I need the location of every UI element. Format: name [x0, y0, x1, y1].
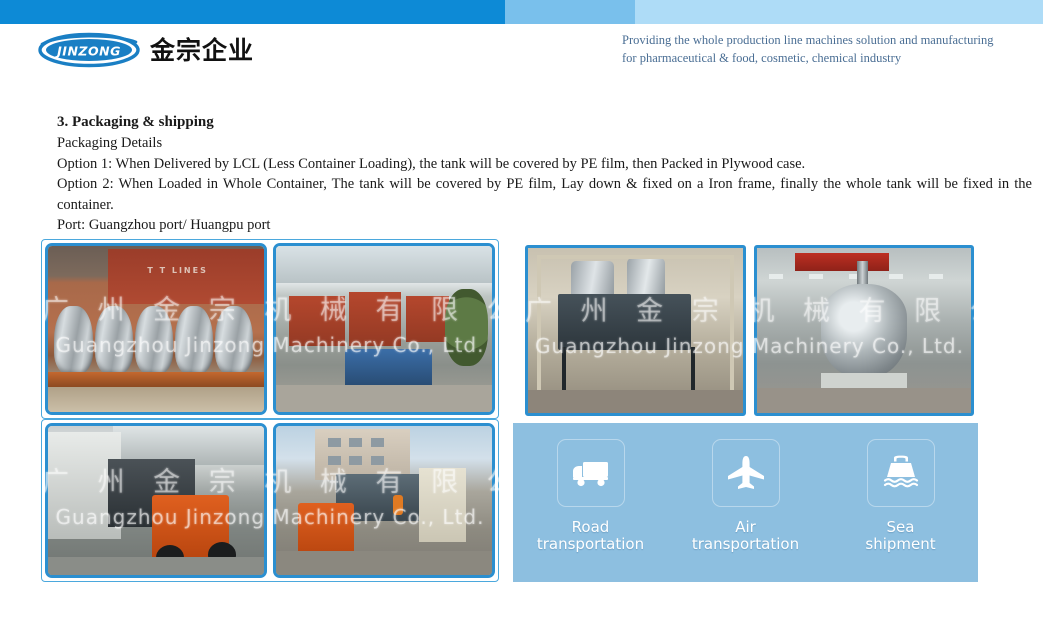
photo-forklift-loading-container [45, 423, 267, 578]
photo-group-top-right: 广 州 金 宗 机 械 有 限 公 司 Guangzhou Jinzong Ma… [525, 245, 974, 416]
photo-group-top-left: T T LINES 广 州 金 宗 机 械 有 限 公 [41, 239, 499, 419]
truck-icon [557, 439, 625, 507]
header-tagline: Providing the whole production line mach… [622, 31, 1047, 67]
transport-item-road: Road transportation [523, 439, 658, 554]
packaging-option-1: Option 1: When Delivered by LCL (Less Co… [57, 154, 1032, 174]
transport-label-sea-line1: Sea [833, 519, 968, 536]
transport-label-road-line2: transportation [523, 536, 658, 553]
transport-item-sea: Sea shipment [833, 439, 968, 554]
jinzong-oval-logo-icon: JINZONG [38, 32, 140, 68]
document-text-block: 3. Packaging & shipping Packaging Detail… [57, 112, 1032, 235]
transport-methods-panel: Road transportation Air transportation [513, 423, 978, 582]
transport-label-sea-line2: shipment [833, 536, 968, 553]
page-header: JINZONG 金宗企业 Providing the whole product… [0, 24, 1060, 90]
transport-item-air: Air transportation [678, 439, 813, 554]
logo-chinese-text: 金宗企业 [150, 38, 254, 63]
photo-reactor-in-factory [754, 245, 975, 416]
transport-label-air-line2: transportation [678, 536, 813, 553]
top-bar-segment-mid [505, 0, 635, 24]
transport-label-air-line1: Air [678, 519, 813, 536]
packaging-option-2: Option 2: When Loaded in Whole Container… [57, 174, 1032, 215]
photo-tanks-on-flatbed: T T LINES [45, 243, 267, 415]
section-title: 3. Packaging & shipping [57, 112, 1032, 132]
top-bar-segment-light [635, 0, 1043, 24]
tagline-line-1: Providing the whole production line mach… [622, 31, 1047, 49]
photo-forklift-loading-outdoors [273, 423, 495, 578]
company-logo: JINZONG 金宗企业 [38, 32, 254, 68]
ship-icon [867, 439, 935, 507]
transport-label-air: Air transportation [678, 519, 813, 554]
svg-text:JINZONG: JINZONG [54, 44, 121, 59]
top-color-bar [0, 0, 1043, 24]
packaging-details-label: Packaging Details [57, 133, 1032, 153]
photo-group-bottom-left: 广 州 金 宗 机 械 有 限 公 司 Guangzhou Jinzong Ma… [41, 419, 499, 582]
transport-label-road: Road transportation [523, 519, 658, 554]
transport-label-road-line1: Road [523, 519, 658, 536]
photo-machine-in-crate [525, 245, 746, 416]
port-info: Port: Guangzhou port/ Huangpu port [57, 215, 1032, 235]
transport-label-sea: Sea shipment [833, 519, 968, 554]
photo-crates-in-yard [273, 243, 495, 415]
airplane-icon [712, 439, 780, 507]
top-bar-segment-dark [0, 0, 505, 24]
tagline-line-2: for pharmaceutical & food, cosmetic, che… [622, 49, 1047, 67]
